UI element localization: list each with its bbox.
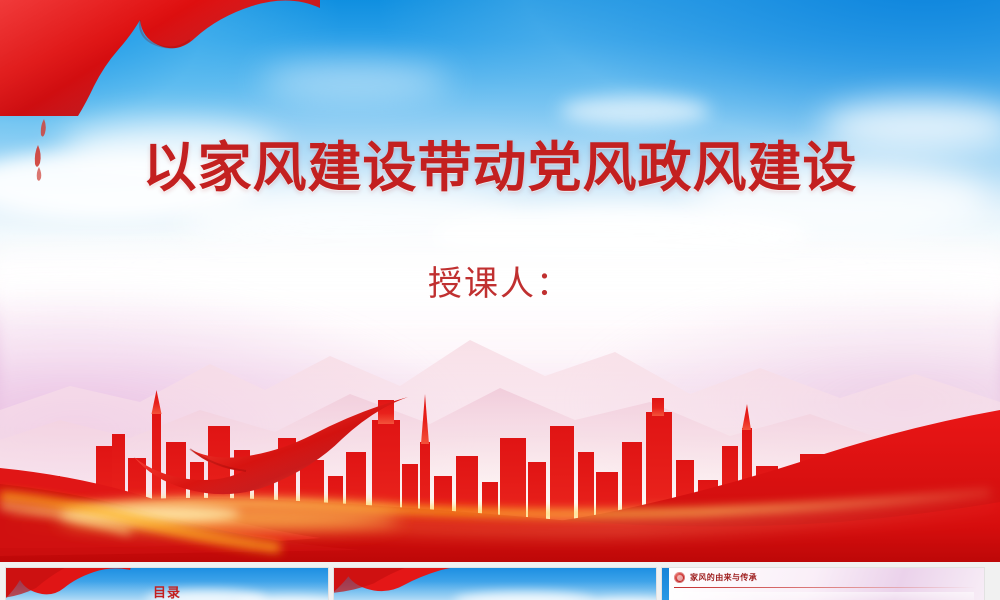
cloud-decoration <box>560 96 710 126</box>
red-flag-drape-top-left <box>0 0 320 140</box>
slide-thumbnail-2[interactable] <box>334 568 656 600</box>
thumbnail-accent-bar <box>662 568 669 600</box>
slide-thumbnail-strip[interactable]: 目录 家风的由来与传承 <box>0 562 1000 600</box>
slide-thumbnail-1[interactable]: 目录 <box>6 568 328 600</box>
slide-subtitle-presenter: 授课人： <box>0 262 1000 306</box>
red-flag-drape-icon <box>334 568 480 594</box>
slide-title: 以家风建设带动党风政风建设 <box>0 136 1000 200</box>
presentation-viewer: 以家风建设带动党风政风建设 授课人： 目录 <box>0 0 1000 600</box>
red-flying-ribbon <box>90 395 420 505</box>
thumbnail-heading-row: 家风的由来与传承 <box>674 572 757 583</box>
red-circle-bullet-icon <box>674 572 685 583</box>
thumbnail-3-heading: 家风的由来与传承 <box>690 572 757 583</box>
thumbnail-body-area <box>674 592 974 600</box>
thumbnail-1-title: 目录 <box>6 582 328 600</box>
slide-thumbnail-3[interactable]: 家风的由来与传承 <box>662 568 984 600</box>
slide-canvas[interactable]: 以家风建设带动党风政风建设 授课人： <box>0 0 1000 562</box>
thumbnail-heading-rule <box>674 587 976 588</box>
